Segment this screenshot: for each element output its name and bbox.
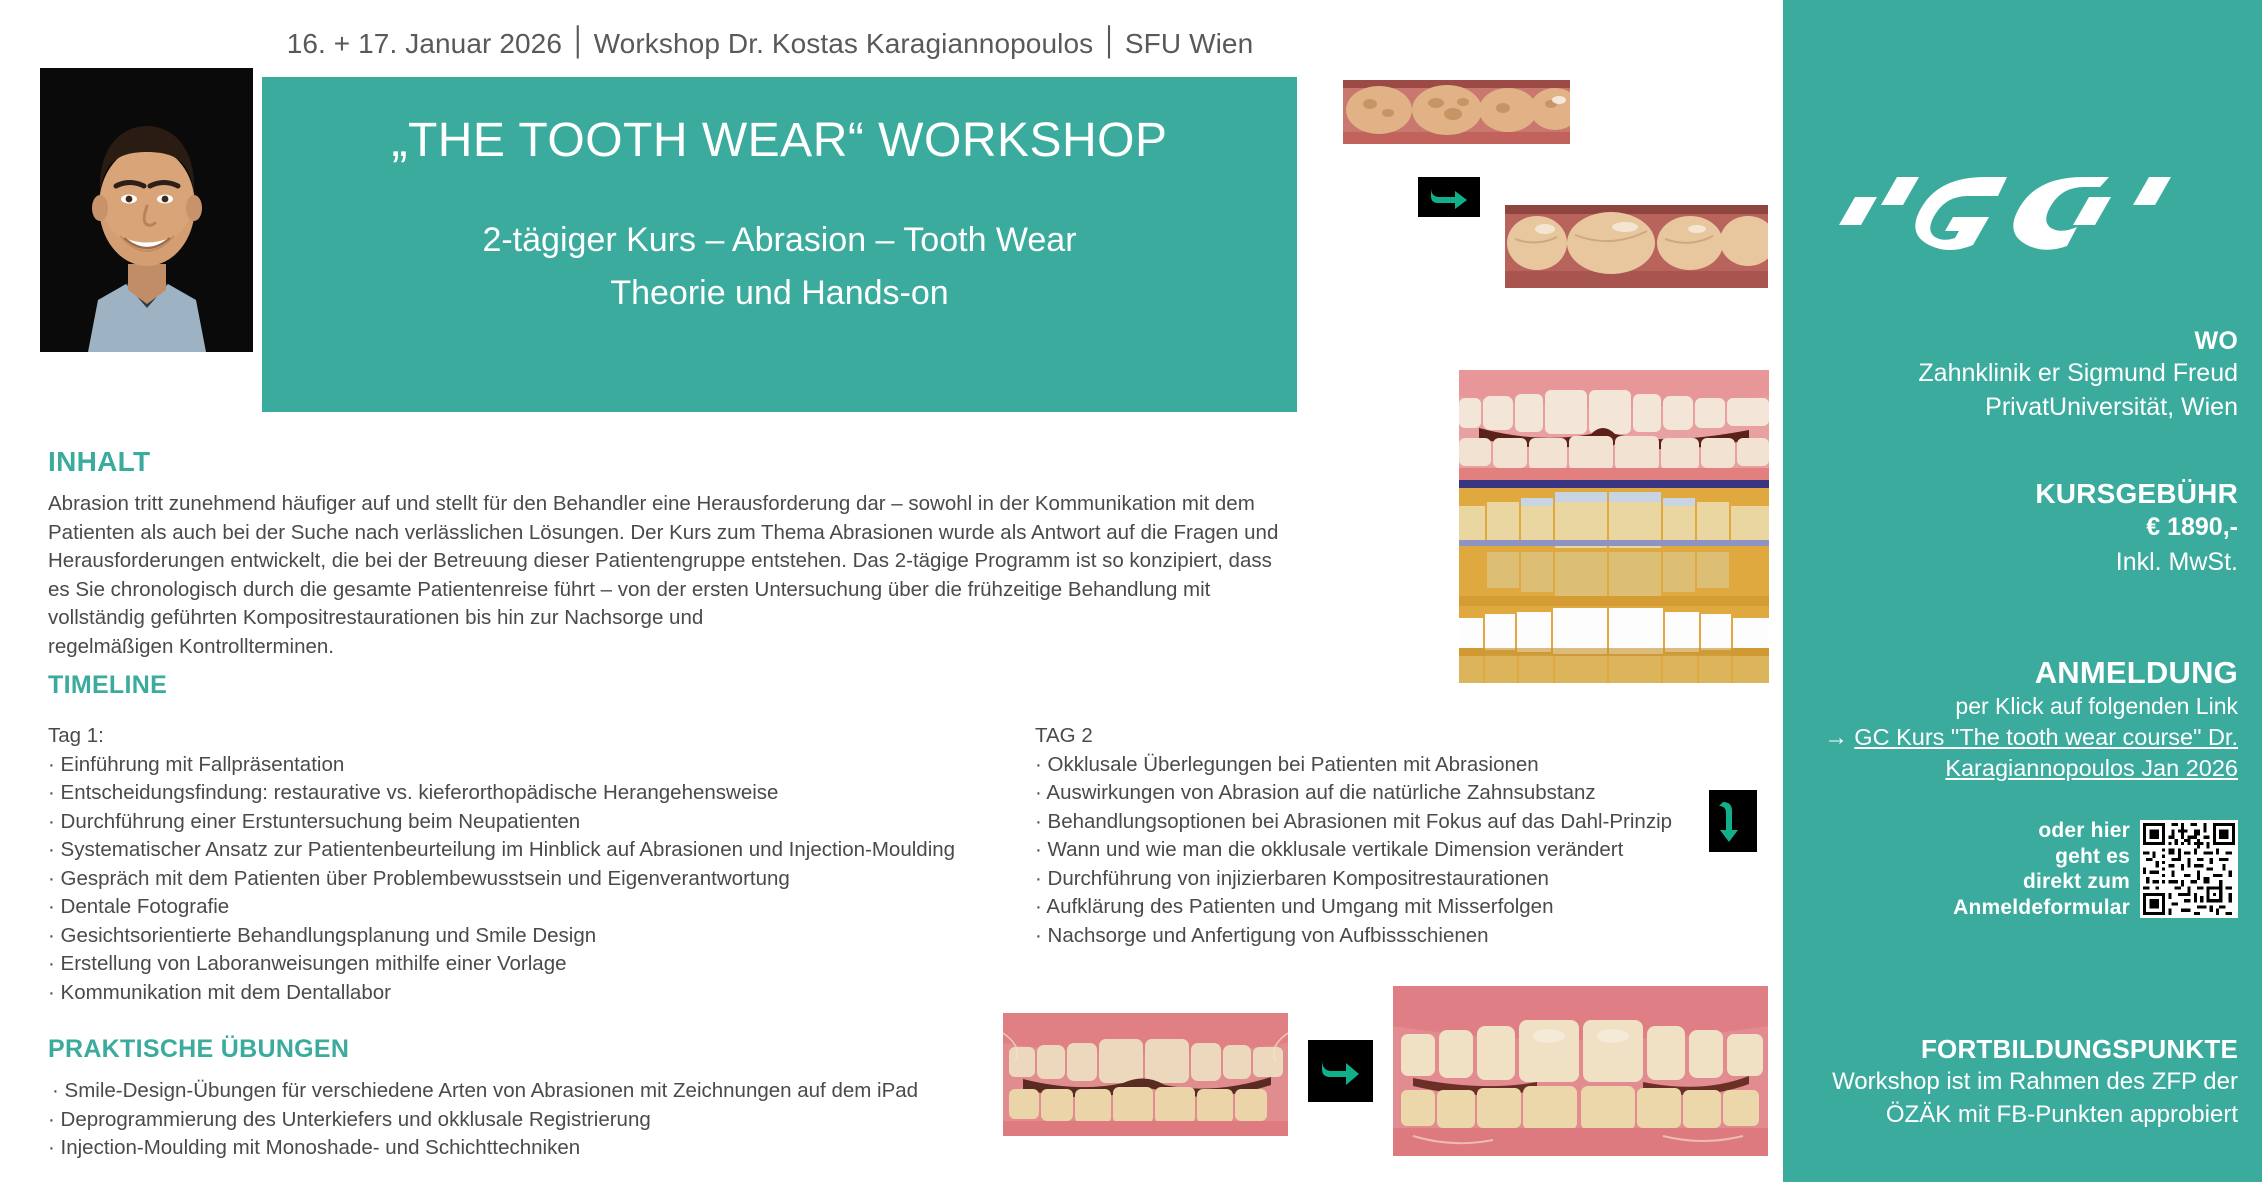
praktische-uebungen-list: · Smile-Design-Übungen für verschiedene … bbox=[48, 1077, 1048, 1163]
registration-title: ANMELDUNG bbox=[1818, 655, 2238, 691]
clinical-photo-smile-before bbox=[1003, 1013, 1288, 1136]
praktische-uebungen-heading: PRAKTISCHE ÜBUNGEN bbox=[48, 1035, 349, 1064]
inhalt-body-text: Abrasion tritt zunehmend häufiger auf un… bbox=[48, 492, 1278, 629]
poster-page: 16. + 17. Januar 2026 ׀ Workshop Dr. Kos… bbox=[0, 0, 2262, 1182]
registration-link-line-2[interactable]: Karagiannopoulos Jan 2026 bbox=[1945, 755, 2238, 781]
list-item: · Gespräch mit dem Patienten über Proble… bbox=[48, 865, 1068, 894]
title-banner: „THE TOOTH WEAR“ WORKSHOP 2-tägiger Kurs… bbox=[262, 77, 1297, 412]
registration-link-line-1[interactable]: GC Kurs "The tooth wear course" Dr. bbox=[1854, 724, 2238, 750]
list-item: · Nachsorge und Anfertigung von Aufbisss… bbox=[1035, 922, 1735, 951]
arrow-right-icon bbox=[1318, 1054, 1363, 1088]
clinical-photo-molars-after bbox=[1505, 205, 1768, 288]
qr-label-line-2: geht es bbox=[1953, 844, 2130, 870]
qr-label-text: oder hier geht es direkt zum Anmeldeform… bbox=[1953, 818, 2130, 920]
qr-label-line-1: oder hier bbox=[1953, 818, 2130, 844]
location-title: WO bbox=[1818, 327, 2238, 356]
arrow-down-icon-badge bbox=[1709, 790, 1757, 852]
qr-registration-row[interactable]: oder hier geht es direkt zum Anmeldeform… bbox=[1953, 818, 2238, 920]
course-fee-title: KURSGEBÜHR bbox=[1818, 478, 2238, 510]
list-item: · Deprogrammierung des Unterkiefers und … bbox=[48, 1106, 1048, 1135]
qr-label-line-3: direkt zum bbox=[1953, 869, 2130, 895]
qr-label-line-4: Anmeldeformular bbox=[1953, 895, 2130, 921]
list-item: · Injection-Moulding mit Monoshade- und … bbox=[48, 1134, 1048, 1163]
list-item: · Auswirkungen von Abrasion auf die natü… bbox=[1035, 779, 1735, 808]
arrow-right-glyph-icon: → bbox=[1824, 724, 1848, 750]
list-item: · Gesichtsorientierte Behandlungsplanung… bbox=[48, 922, 1068, 951]
timeline-day1-column: Tag 1: · Einführung mit Fallpräsentation… bbox=[48, 722, 1068, 1007]
list-item: · Okklusale Überlegungen bei Patienten m… bbox=[1035, 751, 1735, 780]
cpd-points-line-2: ÖZÄK mit FB-Punkten approbiert bbox=[1818, 1098, 2238, 1131]
arrow-right-icon-badge-top bbox=[1418, 177, 1480, 217]
inhalt-heading: INHALT bbox=[48, 446, 150, 478]
course-fee-vat-note: Inkl. MwSt. bbox=[1818, 545, 2238, 579]
list-item: · Erstellung von Laboranweisungen mithil… bbox=[48, 950, 1068, 979]
list-item: · Wann und wie man die okklusale vertika… bbox=[1035, 836, 1735, 865]
location-block: WO Zahnklinik er Sigmund Freud PrivatUni… bbox=[1818, 327, 2238, 424]
course-fee-amount: € 1890,- bbox=[1818, 510, 2238, 545]
clinical-photo-worn-dentition-and-scan bbox=[1459, 370, 1769, 683]
location-line-2: PrivatUniversität, Wien bbox=[1818, 390, 2238, 424]
speaker-portrait-photo bbox=[40, 68, 253, 352]
registration-link-row[interactable]: → GC Kurs "The tooth wear course" Dr. bbox=[1818, 722, 2238, 753]
info-sidebar: WO Zahnklinik er Sigmund Freud PrivatUni… bbox=[1783, 0, 2262, 1182]
event-header-line: 16. + 17. Januar 2026 ׀ Workshop Dr. Kos… bbox=[0, 28, 1540, 60]
registration-link-line-2-row[interactable]: Karagiannopoulos Jan 2026 bbox=[1818, 753, 2238, 784]
timeline-day1-label: Tag 1: bbox=[48, 722, 1068, 751]
registration-subtitle: per Klick auf folgenden Link bbox=[1818, 691, 2238, 722]
list-item: · Durchführung von injizierbaren Komposi… bbox=[1035, 865, 1735, 894]
arrow-down-icon bbox=[1718, 798, 1748, 844]
list-item: · Durchführung einer Erstuntersuchung be… bbox=[48, 808, 1068, 837]
gc-logo bbox=[1833, 163, 2213, 253]
clinical-photo-smile-after bbox=[1393, 986, 1768, 1156]
workshop-subtitle-line-2: Theorie und Hands-on bbox=[262, 274, 1297, 313]
list-item: · Smile-Design-Übungen für verschiedene … bbox=[48, 1077, 1048, 1106]
workshop-title: „THE TOOTH WEAR“ WORKSHOP bbox=[262, 113, 1297, 168]
list-item: · Systematischer Ansatz zur Patientenbeu… bbox=[48, 836, 1068, 865]
inhalt-paragraph: Abrasion tritt zunehmend häufiger auf un… bbox=[48, 490, 1293, 661]
list-item: · Dentale Fotografie bbox=[48, 893, 1068, 922]
cpd-points-block: FORTBILDUNGSPUNKTE Workshop ist im Rahme… bbox=[1818, 1034, 2238, 1131]
qr-code-icon[interactable] bbox=[2140, 820, 2238, 918]
list-item: · Aufklärung des Patienten und Umgang mi… bbox=[1035, 893, 1735, 922]
arrow-right-icon-badge-bottom bbox=[1308, 1040, 1373, 1102]
cpd-points-line-1: Workshop ist im Rahmen des ZFP der bbox=[1818, 1065, 2238, 1098]
timeline-day2-label: TAG 2 bbox=[1035, 722, 1735, 751]
arrow-right-icon bbox=[1427, 184, 1471, 210]
gc-brand-logo bbox=[1833, 163, 2213, 253]
cpd-points-title: FORTBILDUNGSPUNKTE bbox=[1818, 1034, 2238, 1065]
timeline-heading: TIMELINE bbox=[48, 671, 167, 700]
inhalt-body-text-last: regelmäßigen Kontrollterminen. bbox=[48, 635, 334, 658]
course-fee-block: KURSGEBÜHR € 1890,- Inkl. MwSt. bbox=[1818, 478, 2238, 579]
list-item: · Entscheidungsfindung: restaurative vs.… bbox=[48, 779, 1068, 808]
workshop-subtitle-line-1: 2-tägiger Kurs – Abrasion – Tooth Wear bbox=[262, 221, 1297, 260]
list-item: · Kommunikation mit dem Dentallabor bbox=[48, 979, 1068, 1008]
registration-block: ANMELDUNG per Klick auf folgenden Link →… bbox=[1818, 655, 2238, 784]
timeline-day2-column: TAG 2 · Okklusale Überlegungen bei Patie… bbox=[1035, 722, 1735, 950]
clinical-photo-molars-before bbox=[1343, 80, 1570, 144]
list-item: · Einführung mit Fallpräsentation bbox=[48, 751, 1068, 780]
list-item: · Behandlungsoptionen bei Abrasionen mit… bbox=[1035, 808, 1735, 837]
location-line-1: Zahnklinik er Sigmund Freud bbox=[1818, 356, 2238, 390]
